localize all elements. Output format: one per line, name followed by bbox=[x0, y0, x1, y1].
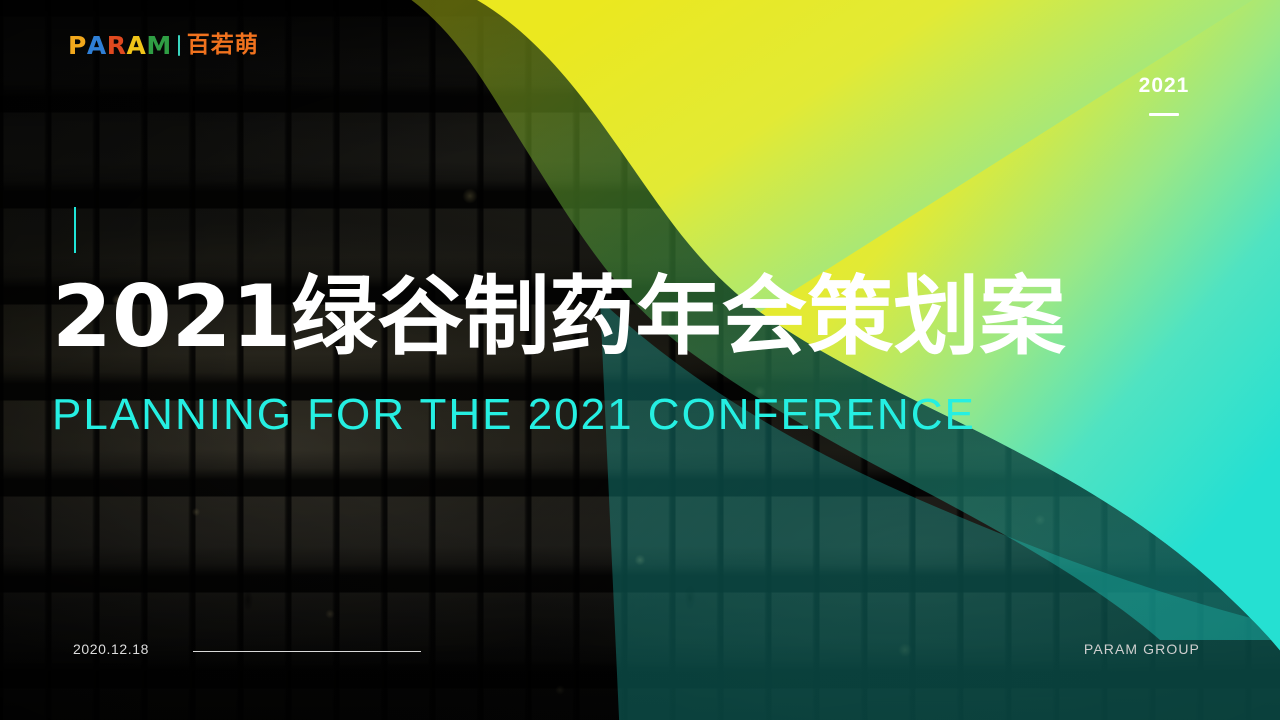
logo-chinese-name: 百若萌 bbox=[187, 34, 259, 57]
slide-subtitle: PLANNING FOR THE 2021 CONFERENCE bbox=[52, 392, 976, 438]
footer-brand: PARAM GROUP bbox=[1084, 641, 1200, 657]
year-badge-rule bbox=[1149, 113, 1179, 116]
logo-divider bbox=[178, 35, 180, 56]
year-badge-value: 2021 bbox=[1130, 74, 1198, 97]
logo-letter-p: P bbox=[68, 33, 87, 58]
logo-wordmark: PARAM bbox=[68, 33, 172, 58]
presentation-slide: PARAM 百若萌 2021 2021绿谷制药年会策划案 PLANNING FO… bbox=[0, 0, 1280, 720]
footer-date: 2020.12.18 bbox=[73, 641, 149, 657]
logo-letter-a1: A bbox=[87, 33, 107, 58]
slide-title: 2021绿谷制药年会策划案 bbox=[52, 272, 1065, 362]
footer-divider-line bbox=[193, 651, 421, 652]
accent-tick-icon bbox=[74, 207, 76, 253]
logo-letter-a2: A bbox=[126, 33, 146, 58]
logo-letter-m: M bbox=[146, 33, 171, 58]
year-badge: 2021 bbox=[1130, 74, 1198, 116]
logo[interactable]: PARAM 百若萌 bbox=[68, 33, 259, 58]
logo-letter-r: R bbox=[107, 33, 127, 58]
